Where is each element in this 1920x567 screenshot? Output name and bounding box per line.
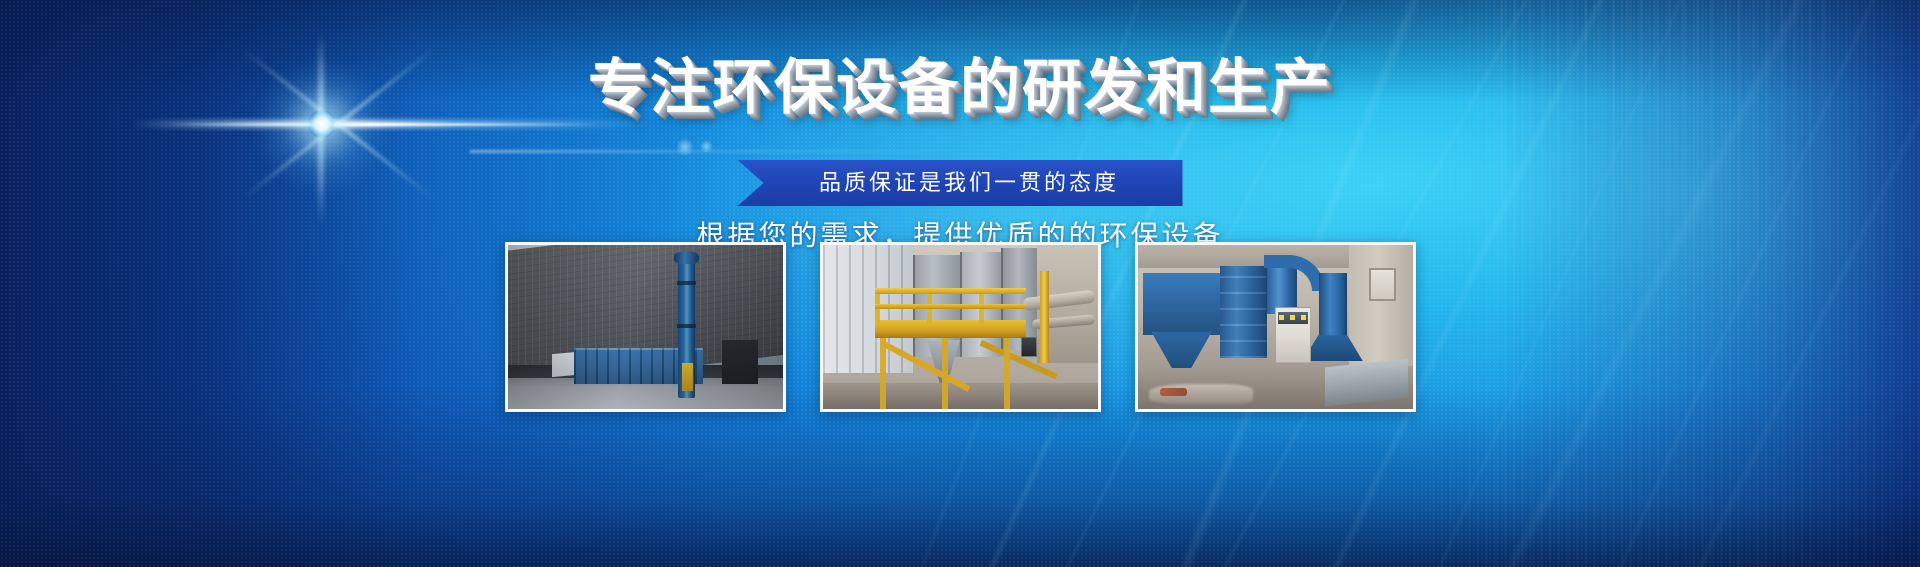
photo-plant-catwalk-ducting (820, 242, 1101, 412)
photo-strip (0, 242, 1920, 414)
banner-headline: 专注环保设备的研发和生产 (0, 56, 1920, 120)
banner-ribbon-text: 品质保证是我们一贯的态度 (801, 160, 1119, 206)
banner-ribbon-wrap: 品质保证是我们一贯的态度 (0, 160, 1920, 206)
banner-content: 专注环保设备的研发和生产 品质保证是我们一贯的态度 根据您的需求，提供优质的的环… (0, 0, 1920, 567)
photo-cyclone-dust-collector (1135, 242, 1416, 412)
banner-ribbon: 品质保证是我们一贯的态度 (738, 160, 1183, 206)
photo-warehouse-exhaust-stack (505, 242, 786, 412)
hero-banner: 专注环保设备的研发和生产 品质保证是我们一贯的态度 根据您的需求，提供优质的的环… (0, 0, 1920, 567)
